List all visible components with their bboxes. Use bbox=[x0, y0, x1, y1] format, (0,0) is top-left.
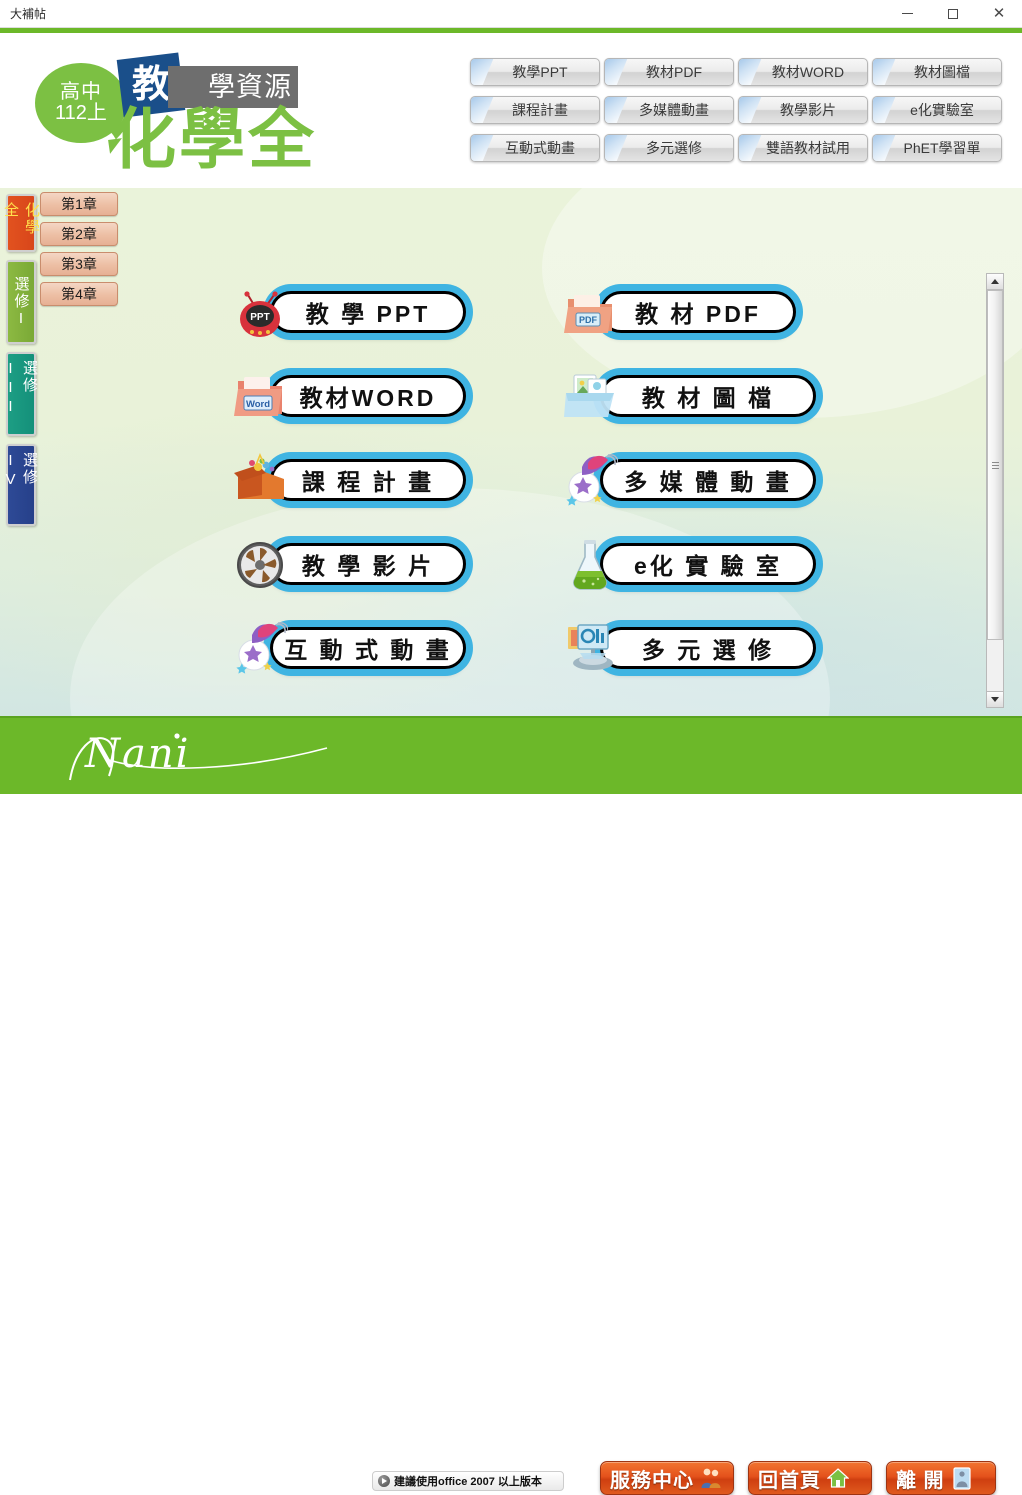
flask-icon-wrap bbox=[562, 535, 618, 593]
top-category-button-4[interactable]: 教材圖檔 bbox=[872, 58, 1002, 86]
top-category-button-9[interactable]: 互動式動畫 bbox=[470, 134, 600, 162]
resource-label: 教 學 影 片 bbox=[302, 547, 434, 581]
svg-text:Word: Word bbox=[246, 399, 270, 410]
footer-top-line bbox=[0, 716, 1022, 718]
scrollbar-grip-icon bbox=[992, 460, 999, 471]
header: 高中 112上 教 學資源 化學全 教學PPT教材PDF教材WORD教材圖檔課程… bbox=[0, 33, 1022, 188]
resource-pill[interactable]: 教 材 圖 檔 bbox=[600, 375, 816, 417]
content-scrollbar[interactable] bbox=[986, 273, 1004, 708]
button-slash-icon bbox=[604, 58, 629, 86]
resource-pill[interactable]: 課 程 計 畫 bbox=[270, 459, 466, 501]
top-category-label: 教材WORD bbox=[762, 62, 844, 82]
resource-pill[interactable]: e化 實 驗 室 bbox=[600, 543, 816, 585]
top-category-button-3[interactable]: 教材WORD bbox=[738, 58, 868, 86]
people-icon bbox=[700, 1466, 722, 1490]
svg-text:PDF: PDF bbox=[579, 315, 598, 325]
resource-button-7[interactable]: 教 學 影 片 bbox=[232, 530, 562, 597]
resource-pill[interactable]: 互 動 式 動 畫 bbox=[270, 627, 466, 669]
top-category-button-7[interactable]: 教學影片 bbox=[738, 96, 868, 124]
resource-bar-label: 學資源 bbox=[208, 74, 292, 101]
teach-badge-char: 教 bbox=[132, 66, 170, 104]
title-bar: 大補帖 ✕ bbox=[0, 0, 1022, 28]
close-icon: ✕ bbox=[993, 6, 1006, 21]
resource-label: 課 程 計 畫 bbox=[302, 463, 434, 497]
magic-hat-icon bbox=[232, 619, 288, 677]
chevron-up-icon bbox=[991, 279, 999, 284]
top-category-button-11[interactable]: 雙語教材試用 bbox=[738, 134, 868, 162]
top-category-label: 多元選修 bbox=[636, 138, 702, 158]
resource-button-5[interactable]: 課 程 計 畫 bbox=[232, 446, 562, 513]
minimize-icon bbox=[902, 13, 913, 14]
top-category-button-12[interactable]: PhET學習單 bbox=[872, 134, 1002, 162]
image-folder-icon bbox=[562, 367, 618, 425]
home-icon bbox=[827, 1466, 849, 1490]
resource-button-8[interactable]: e化 實 驗 室 bbox=[562, 530, 892, 597]
office-version-note: 建議使用office 2007 以上版本 bbox=[372, 1471, 564, 1491]
volume-tab-4[interactable]: 選修IV bbox=[6, 444, 36, 526]
page-title: 化學全 bbox=[110, 106, 317, 172]
brand-logo: Nani bbox=[55, 726, 355, 784]
button-slash-icon bbox=[470, 134, 495, 162]
service-center-label: 服務中心 bbox=[610, 1464, 694, 1493]
resource-label: 互 動 式 動 畫 bbox=[284, 631, 452, 665]
top-category-label: 教學PPT bbox=[502, 62, 567, 82]
button-slash-icon bbox=[738, 58, 763, 86]
exit-button[interactable]: 離 開 bbox=[886, 1461, 996, 1495]
button-slash-icon bbox=[604, 96, 629, 124]
top-category-button-2[interactable]: 教材PDF bbox=[604, 58, 734, 86]
top-category-button-1[interactable]: 教學PPT bbox=[470, 58, 600, 86]
scrollbar-thumb[interactable] bbox=[987, 290, 1003, 640]
monitor-chart-icon bbox=[562, 619, 618, 677]
home-label: 回首頁 bbox=[758, 1464, 821, 1493]
volume-tab-2[interactable]: 選修I bbox=[6, 260, 36, 344]
service-center-button[interactable]: 服務中心 bbox=[600, 1461, 734, 1495]
resource-pill[interactable]: 教材WORD bbox=[270, 375, 466, 417]
resource-label: 教 學 PPT bbox=[306, 295, 431, 329]
gift-box-icon-wrap bbox=[232, 451, 288, 509]
magic-hat-icon-wrap bbox=[232, 619, 288, 677]
close-button[interactable]: ✕ bbox=[976, 0, 1022, 28]
button-slash-icon bbox=[872, 96, 897, 124]
resource-pill[interactable]: 多 媒 體 動 畫 bbox=[600, 459, 816, 501]
product-logo: 高中 112上 教 學資源 化學全 bbox=[18, 38, 318, 188]
main-panel: 化學全選修I選修III選修IV 第1章第2章第3章第4章 PPT 教 學 PPT… bbox=[0, 188, 1022, 716]
chapter-button-3[interactable]: 第3章 bbox=[40, 252, 118, 276]
footer: Nani 建議使用office 2007 以上版本 服務中心 回首頁 離 開 bbox=[0, 716, 1022, 794]
top-category-label: PhET學習單 bbox=[893, 138, 980, 158]
volume-tab-list: 化學全選修I選修III選修IV bbox=[6, 194, 36, 534]
button-slash-icon bbox=[604, 134, 629, 162]
resource-button-1[interactable]: PPT 教 學 PPT bbox=[232, 278, 562, 345]
top-category-button-5[interactable]: 課程計畫 bbox=[470, 96, 600, 124]
chapter-button-4[interactable]: 第4章 bbox=[40, 282, 118, 306]
chapter-button-2[interactable]: 第2章 bbox=[40, 222, 118, 246]
gift-box-icon bbox=[232, 451, 288, 509]
resource-button-10[interactable]: 多 元 選 修 bbox=[562, 614, 892, 681]
top-category-label: 雙語教材試用 bbox=[756, 138, 850, 158]
button-slash-icon bbox=[738, 96, 763, 124]
folder-pdf-icon-wrap: PDF bbox=[562, 283, 618, 341]
resource-label: 教 材 圖 檔 bbox=[642, 379, 774, 413]
brand-name: Nani bbox=[85, 734, 190, 774]
semester-label: 112上 bbox=[55, 103, 107, 124]
flask-icon bbox=[562, 535, 618, 593]
window-controls: ✕ bbox=[884, 0, 1022, 28]
monitor-chart-icon-wrap bbox=[562, 619, 618, 677]
window-title: 大補帖 bbox=[10, 5, 46, 22]
resource-button-6[interactable]: 多 媒 體 動 畫 bbox=[562, 446, 892, 513]
home-button[interactable]: 回首頁 bbox=[748, 1461, 872, 1495]
top-category-button-10[interactable]: 多元選修 bbox=[604, 134, 734, 162]
resource-button-2[interactable]: PDF教 材 PDF bbox=[562, 278, 892, 345]
top-category-label: 多媒體動畫 bbox=[629, 100, 709, 120]
exit-label: 離 開 bbox=[896, 1464, 945, 1493]
folder-word-icon: Word bbox=[232, 367, 288, 425]
tv-ppt-icon-wrap: PPT bbox=[232, 283, 288, 341]
volume-tab-3[interactable]: 選修III bbox=[6, 352, 36, 436]
magic-hat-icon bbox=[562, 451, 618, 509]
exit-door-icon bbox=[951, 1466, 973, 1490]
button-slash-icon bbox=[470, 96, 495, 124]
chapter-button-list: 第1章第2章第3章第4章 bbox=[40, 192, 118, 312]
resource-button-9[interactable]: 互 動 式 動 畫 bbox=[232, 614, 562, 681]
magic-hat-icon-wrap bbox=[562, 451, 618, 509]
resource-button-grid: PPT 教 學 PPT PDF教 材 PDF Word教材WORD bbox=[232, 278, 892, 681]
top-category-label: e化實驗室 bbox=[900, 100, 974, 120]
svg-text:PPT: PPT bbox=[250, 312, 269, 323]
maximize-button[interactable] bbox=[930, 0, 976, 28]
minimize-button[interactable] bbox=[884, 0, 930, 28]
top-category-label: 教材PDF bbox=[636, 62, 702, 82]
top-category-button-6[interactable]: 多媒體動畫 bbox=[604, 96, 734, 124]
chapter-button-1[interactable]: 第1章 bbox=[40, 192, 118, 216]
tv-ppt-icon: PPT bbox=[232, 283, 288, 341]
top-category-label: 課程計畫 bbox=[502, 100, 568, 120]
image-folder-icon-wrap bbox=[562, 367, 618, 425]
top-category-buttons: 教學PPT教材PDF教材WORD教材圖檔課程計畫多媒體動畫教學影片e化實驗室互動… bbox=[470, 58, 1002, 162]
resource-pill[interactable]: 教 學 影 片 bbox=[270, 543, 466, 585]
top-category-label: 互動式動畫 bbox=[495, 138, 575, 158]
button-slash-icon bbox=[470, 58, 495, 86]
resource-pill[interactable]: 教 材 PDF bbox=[600, 291, 796, 333]
resource-label: 多 媒 體 動 畫 bbox=[624, 463, 792, 497]
resource-label: e化 實 驗 室 bbox=[634, 547, 782, 581]
resource-pill[interactable]: 多 元 選 修 bbox=[600, 627, 816, 669]
play-icon bbox=[378, 1475, 390, 1487]
resource-label: 多 元 選 修 bbox=[642, 631, 774, 665]
folder-pdf-icon: PDF bbox=[562, 283, 618, 341]
top-category-button-8[interactable]: e化實驗室 bbox=[872, 96, 1002, 124]
folder-word-icon-wrap: Word bbox=[232, 367, 288, 425]
scroll-down-button[interactable] bbox=[987, 691, 1003, 707]
resource-button-4[interactable]: 教 材 圖 檔 bbox=[562, 362, 892, 429]
scroll-up-button[interactable] bbox=[987, 274, 1003, 290]
button-slash-icon bbox=[872, 58, 897, 86]
volume-tab-1[interactable]: 化學全 bbox=[6, 194, 36, 252]
resource-label: 教材WORD bbox=[300, 379, 437, 413]
top-category-label: 教材圖檔 bbox=[904, 62, 970, 82]
office-version-text: 建議使用office 2007 以上版本 bbox=[394, 1473, 542, 1489]
maximize-icon bbox=[948, 9, 958, 19]
resource-label: 教 材 PDF bbox=[635, 295, 761, 329]
resource-pill[interactable]: 教 學 PPT bbox=[270, 291, 466, 333]
resource-button-3[interactable]: Word教材WORD bbox=[232, 362, 562, 429]
film-reel-icon bbox=[232, 535, 288, 593]
grade-label: 高中 bbox=[60, 82, 102, 103]
film-reel-icon-wrap bbox=[232, 535, 288, 593]
top-category-label: 教學影片 bbox=[770, 100, 836, 120]
chevron-down-icon bbox=[991, 697, 999, 702]
